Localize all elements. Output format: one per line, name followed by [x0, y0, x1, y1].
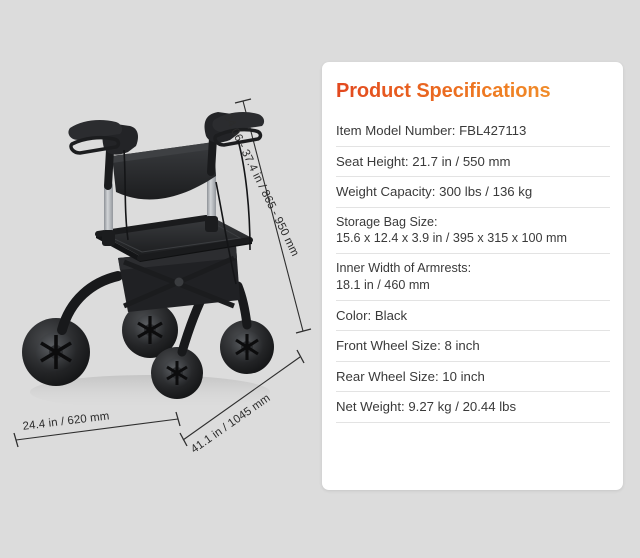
spec-text: 15.6 x 12.4 x 3.9 in / 395 x 315 x 100 m…: [336, 230, 610, 247]
dimension-cap-depth-right: [297, 350, 304, 363]
wheel-front-right: [151, 347, 203, 399]
spec-row-inner-width-of-armrests: Inner Width of Armrests:18.1 in / 460 mm: [336, 254, 610, 300]
spec-text: Inner Width of Armrests:: [336, 260, 610, 277]
spec-text: Front Wheel Size: 8 inch: [336, 337, 610, 355]
spec-card-title: Product Specifications: [336, 80, 551, 103]
product-image-panel: 34.06 - 37.4 in / 865 - 950 mm 24.4 in /…: [0, 0, 320, 558]
spec-text: Net Weight: 9.27 kg / 20.44 lbs: [336, 398, 610, 416]
spec-text: Weight Capacity: 300 lbs / 136 kg: [336, 183, 610, 201]
rollator-walker-body: [22, 112, 274, 399]
rollator-walker-illustration: [0, 0, 320, 558]
product-specifications-card: Product Specifications Item Model Number…: [322, 62, 623, 490]
dimension-cap-depth-left: [180, 433, 187, 446]
spec-row-front-wheel-size: Front Wheel Size: 8 inch: [336, 331, 610, 362]
wheel-front-left: [22, 318, 90, 386]
spec-text: Seat Height: 21.7 in / 550 mm: [336, 153, 610, 171]
handle-left: [68, 120, 138, 155]
spec-row-net-weight: Net Weight: 9.27 kg / 20.44 lbs: [336, 392, 610, 423]
spec-row-item-model-number: Item Model Number: FBL427113: [336, 120, 610, 147]
spec-row-seat-height: Seat Height: 21.7 in / 550 mm: [336, 147, 610, 178]
spec-row-storage-bag-size: Storage Bag Size:15.6 x 12.4 x 3.9 in / …: [336, 208, 610, 254]
spec-text: Rear Wheel Size: 10 inch: [336, 368, 610, 386]
spec-row-weight-capacity: Weight Capacity: 300 lbs / 136 kg: [336, 177, 610, 208]
spec-text: Color: Black: [336, 307, 610, 325]
spec-text: 18.1 in / 460 mm: [336, 277, 610, 294]
spec-text: Item Model Number: FBL427113: [336, 122, 610, 140]
spec-row-color: Color: Black: [336, 301, 610, 332]
spec-list: Item Model Number: FBL427113Seat Height:…: [336, 120, 610, 423]
spec-row-rear-wheel-size: Rear Wheel Size: 10 inch: [336, 362, 610, 393]
dimension-cap-height-bottom: [296, 329, 311, 333]
spec-text: Storage Bag Size:: [336, 214, 610, 231]
